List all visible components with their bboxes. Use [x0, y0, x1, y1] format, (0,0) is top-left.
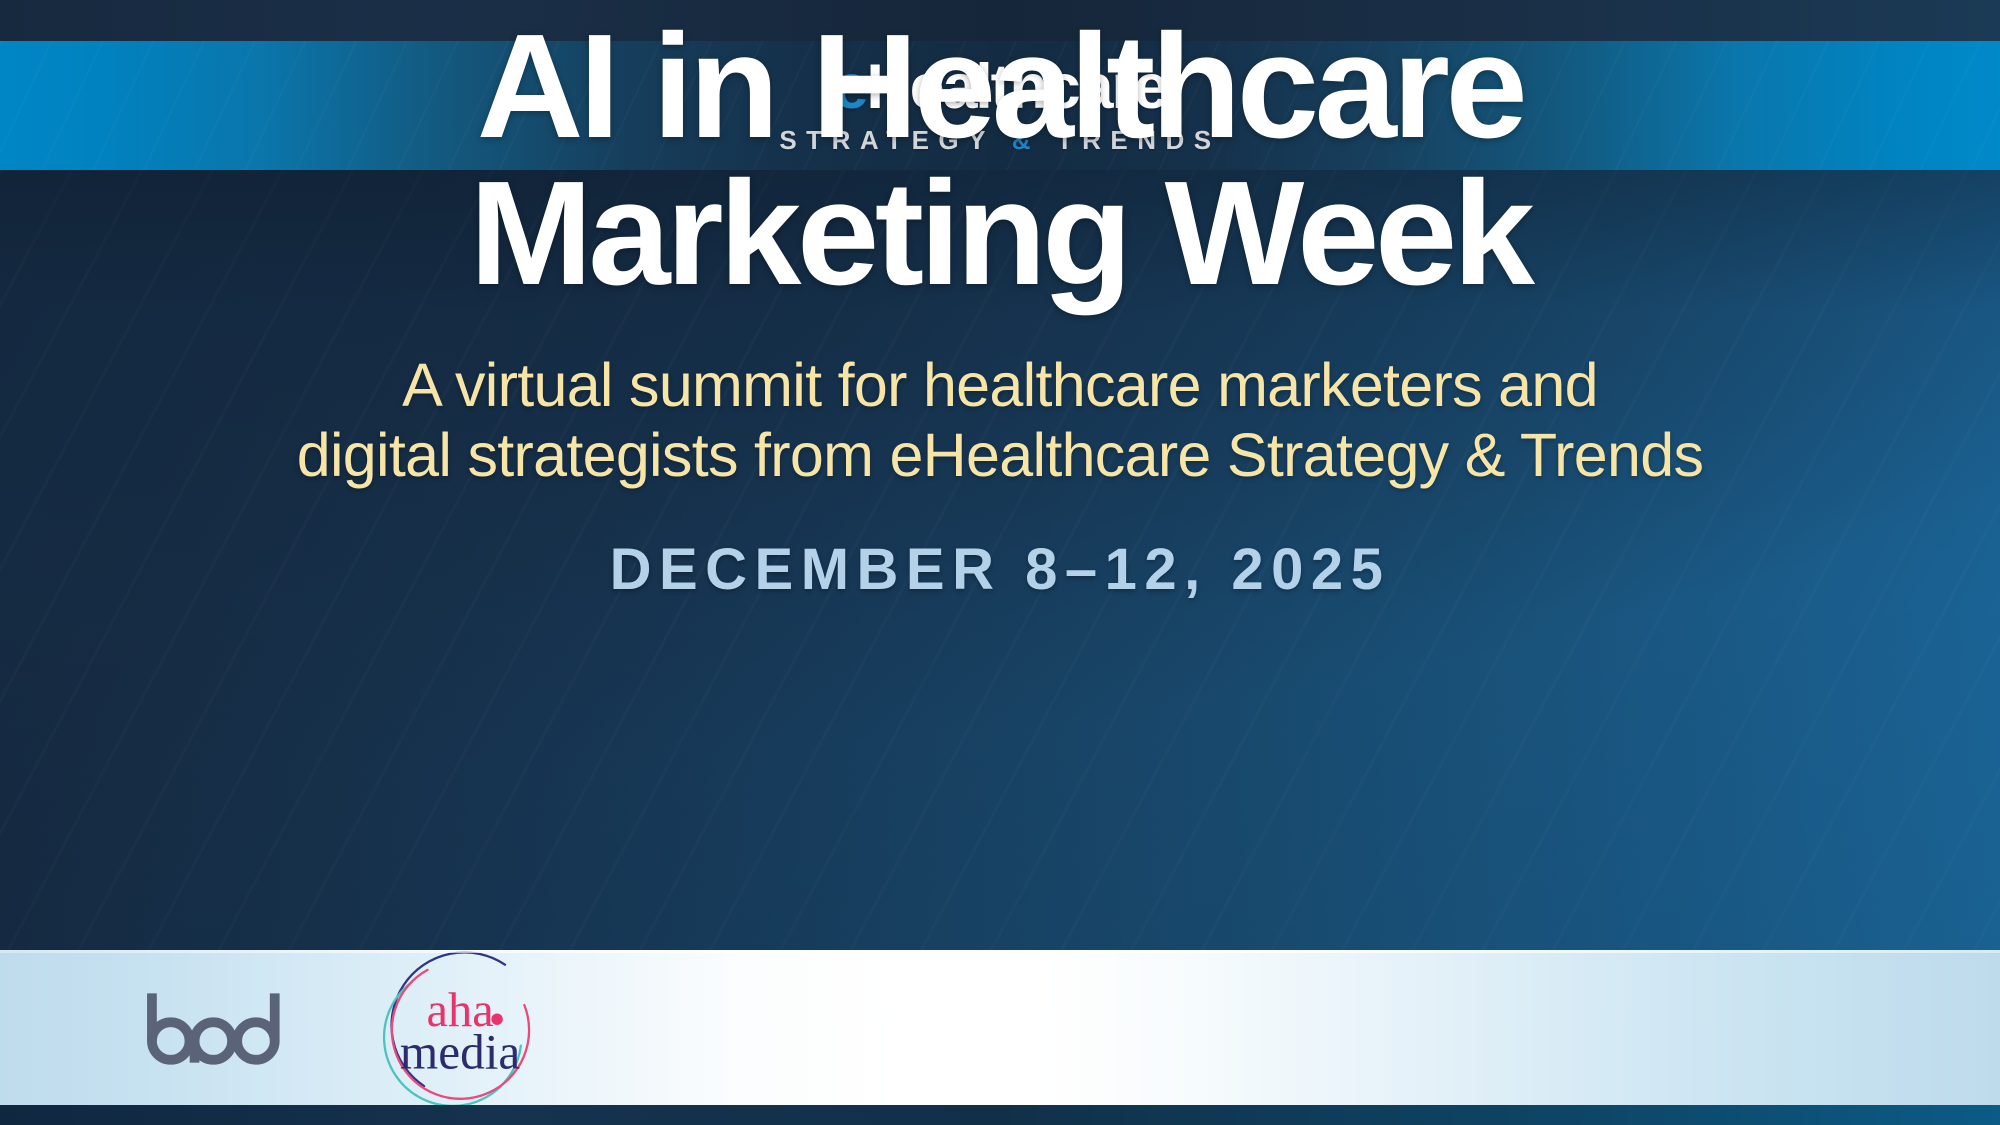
event-promo-banner: eHealthcare STRATEGY & TRENDS AI in Heal…	[0, 0, 2000, 1125]
event-dateline: DECEMBER 8–12, 2025	[610, 536, 1391, 603]
event-subtitle: A virtual summit for healthcare marketer…	[297, 351, 1704, 490]
aha-dot-icon	[491, 1013, 502, 1024]
aha-media-logo[interactable]: aha media	[372, 940, 550, 1116]
media-wordmark: media	[400, 1024, 521, 1079]
headline-line-2: Marketing Week	[469, 161, 1530, 308]
sponsor-logo-bar: aha media	[0, 950, 2000, 1105]
headline-line-1: AI in Healthcare	[477, 4, 1524, 169]
subtitle-line-1: A virtual summit for healthcare marketer…	[402, 351, 1598, 419]
subtitle-line-2: digital strategists from eHealthcare Str…	[297, 421, 1704, 491]
bpd-logo[interactable]	[140, 989, 330, 1067]
page-title: AI in Healthcare Marketing Week	[469, 14, 1530, 307]
bottom-accent-strip	[0, 1105, 2000, 1125]
